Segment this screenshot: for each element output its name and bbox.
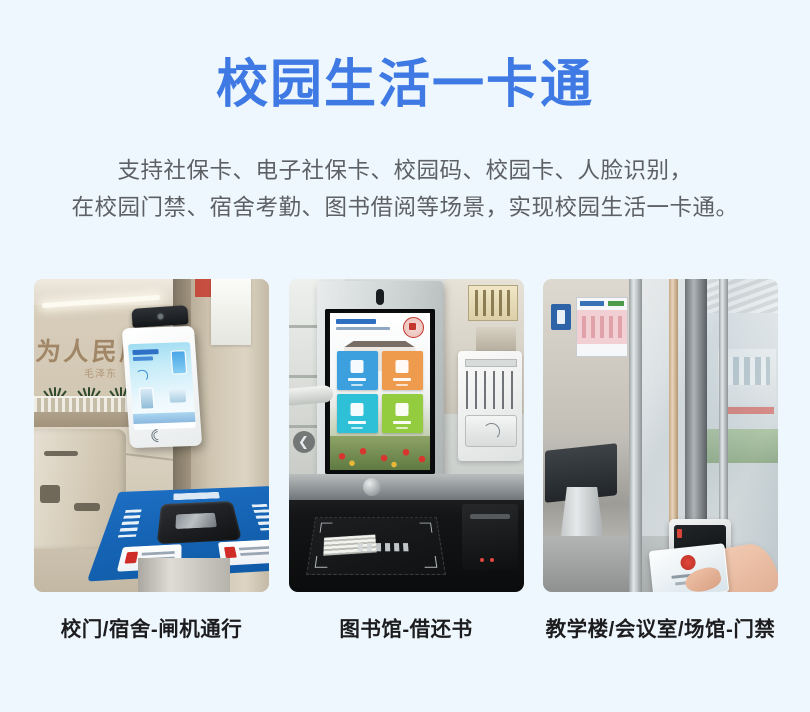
tile-search[interactable] — [337, 394, 378, 433]
tile-sublabel — [351, 427, 363, 429]
card-reader-area[interactable] — [465, 415, 517, 447]
card-caption-library: 图书馆-借还书 — [289, 612, 524, 642]
feature-card-library[interactable]: ❮ 图书馆-借还书 — [289, 279, 524, 642]
panel-label-right — [252, 504, 269, 531]
turnstile-slot — [40, 485, 60, 503]
photo-library-kiosk: ❮ — [289, 279, 524, 592]
school-emblem-icon — [403, 317, 424, 338]
tile-sublabel — [396, 427, 408, 429]
counter-knob — [363, 478, 381, 496]
self-service-kiosk[interactable] — [317, 281, 443, 481]
direction-sign-icon — [551, 304, 571, 330]
page-subtitle: 支持社保卡、电子社保卡、校园码、校园卡、人脸识别， 在校园门禁、宿舍考勤、图书借… — [0, 152, 810, 226]
book-scan-pad[interactable] — [306, 517, 446, 575]
wall-poster — [576, 297, 628, 357]
counter-surface — [289, 474, 524, 500]
wall-notice-paper — [211, 279, 251, 345]
tile-sublabel — [351, 384, 363, 386]
tile-label — [348, 378, 366, 381]
storage-box — [476, 327, 516, 353]
kiosk-counter — [289, 474, 524, 592]
cabinet-instruction-text — [466, 371, 514, 409]
flower-bed-graphic — [330, 436, 430, 470]
reader-icon — [169, 388, 186, 403]
subtitle-line-1: 支持社保卡、电子社保卡、校园码、校园卡、人脸识别， — [0, 152, 810, 189]
screen-heading-bar — [132, 349, 158, 355]
kiosk-ui — [330, 313, 430, 470]
printer-slot — [470, 514, 510, 519]
kiosk-display[interactable] — [325, 309, 435, 474]
terminal-screen — [128, 342, 196, 430]
kiosk-tile-grid — [337, 351, 423, 433]
device-icon — [139, 387, 155, 409]
tile-renew[interactable] — [382, 394, 423, 433]
tile-label — [393, 378, 411, 381]
red-notice — [195, 279, 211, 297]
panel-label-left — [118, 509, 142, 537]
book-icon — [351, 360, 364, 373]
phone-icon — [170, 350, 187, 374]
camera-icon — [131, 305, 188, 328]
screen-footer-band — [133, 412, 196, 424]
cabinet-title-label — [465, 359, 517, 367]
search-icon — [351, 403, 364, 416]
screen-subheading-bar — [133, 356, 153, 361]
panel-title-text — [173, 492, 219, 500]
tile-borrow[interactable] — [337, 351, 378, 390]
tile-label — [348, 421, 366, 424]
photo-door-access — [543, 279, 778, 592]
poster-header-green — [608, 301, 624, 306]
poster-body-text — [582, 316, 622, 338]
feature-card-access-control[interactable]: 教学楼/会议室/场馆-门禁 — [543, 279, 778, 642]
chevron-left-icon[interactable]: ❮ — [293, 431, 315, 453]
receipt-printer — [462, 504, 518, 570]
tile-sublabel — [396, 384, 408, 386]
page-title: 校园生活一卡通 — [0, 56, 810, 114]
photo-gate-turnstile: 为人民服务 毛泽东 — [34, 279, 269, 592]
scan-corner-icon — [419, 523, 432, 533]
qr-scanner-window[interactable] — [157, 501, 243, 544]
ui-subtitle-bar — [336, 327, 390, 330]
feature-card-row: 为人民服务 毛泽东 — [34, 279, 778, 642]
subtitle-line-2: 在校园门禁、宿舍考勤、图书借阅等场景，实现校园生活一卡通。 — [0, 189, 810, 226]
door-frame-left — [629, 279, 642, 592]
scan-area-text — [357, 543, 410, 551]
renew-icon — [396, 403, 409, 416]
signal-wave-icon — [136, 369, 149, 381]
nfc-icon — [151, 429, 174, 442]
feature-card-gate[interactable]: 为人民服务 毛泽东 — [34, 279, 269, 642]
wall-sign — [468, 285, 518, 321]
card-caption-gate: 校门/宿舍-闸机通行 — [34, 612, 269, 642]
card-caption-access-control: 教学楼/会议室/场馆-门禁 — [543, 612, 778, 642]
ui-title-bar — [336, 319, 376, 324]
scan-corner-icon — [319, 523, 332, 533]
turnstile-slot — [74, 503, 100, 511]
tile-return[interactable] — [382, 351, 423, 390]
status-led — [677, 529, 682, 538]
return-icon — [396, 360, 409, 373]
camera-icon — [376, 289, 384, 305]
wall-mounted-reader-cabinet[interactable] — [458, 351, 522, 461]
status-led — [480, 558, 484, 562]
guard-rail — [34, 396, 130, 412]
scan-corner-icon — [314, 556, 328, 568]
scan-corner-icon — [423, 556, 437, 568]
turnstile-slot — [44, 451, 78, 456]
poster-header-blue — [580, 301, 604, 306]
national-emblem-icon — [680, 554, 696, 570]
tile-label — [393, 421, 411, 424]
turnstile-base — [138, 558, 230, 592]
face-recognition-terminal[interactable] — [122, 326, 202, 448]
